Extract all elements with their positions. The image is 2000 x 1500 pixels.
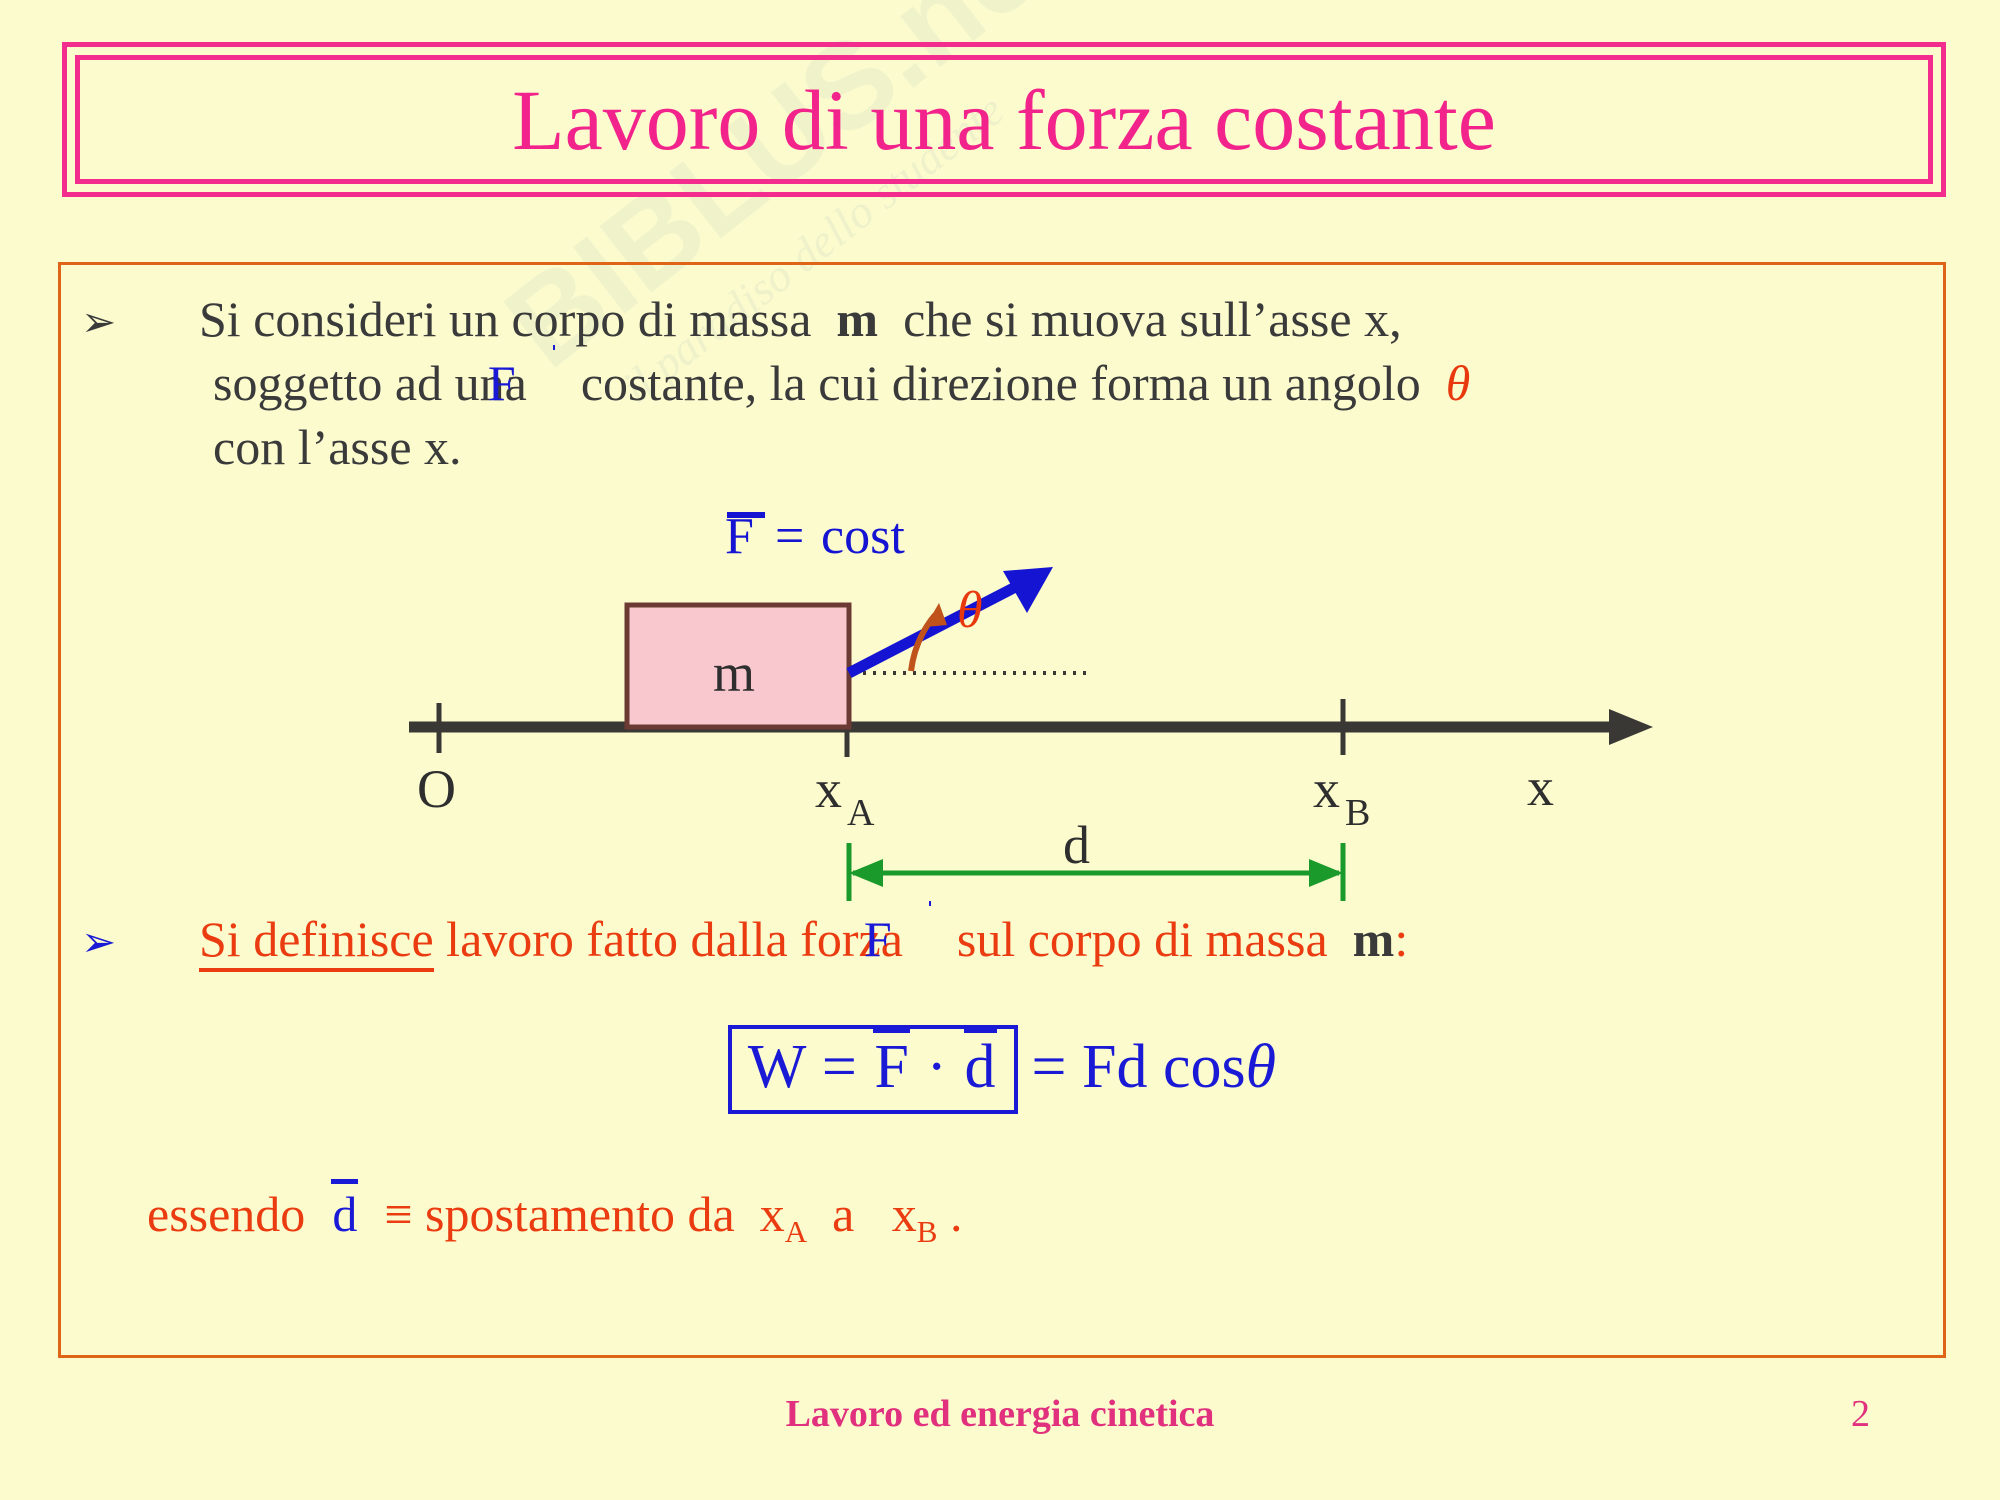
paragraph1-part1: Si consideri un corpo di massa	[199, 291, 811, 347]
formula-equals-1: =	[822, 1033, 857, 1101]
paragraph3-xa: x	[760, 1186, 785, 1242]
work-formula-boxed: W = F · d	[728, 1025, 1018, 1114]
formula-fd: Fd	[1082, 1033, 1147, 1101]
paragraph3-equiv: ≡	[384, 1186, 412, 1242]
x-axis	[409, 699, 1653, 757]
force-label-cost: cost	[821, 508, 905, 565]
paragraph2-underlined: Si definisce	[199, 911, 434, 972]
page-title: Lavoro di una forza costante	[67, 77, 1941, 163]
paragraph2-part3: :	[1394, 911, 1408, 967]
work-formula-tail: = Fd cosθ	[1032, 1032, 1277, 1103]
xb-label: x	[1313, 759, 1340, 819]
formula-cos: cos	[1163, 1033, 1246, 1101]
formula-dot: ·	[926, 1033, 947, 1101]
title-frame: Lavoro di una forza costante	[62, 42, 1946, 197]
formula-displacement-vector: d	[963, 1035, 998, 1100]
force-label-f: F	[725, 508, 754, 565]
formula-equals-2: =	[1032, 1033, 1067, 1101]
physics-diagram: F = cost m	[391, 495, 1671, 915]
force-vector-symbol-inline-1: F	[552, 351, 556, 415]
bullet-arrow-icon-2: ➢	[147, 915, 199, 969]
paragraph2-mass-symbol: m	[1353, 911, 1395, 967]
paragraph-block-3: essendo d ≡ spostamento da xA a xB .	[147, 1185, 962, 1250]
paragraph1-mass-symbol: m	[836, 291, 878, 347]
paragraph1-part5: con l’asse x.	[213, 419, 462, 475]
mass-block-label: m	[713, 643, 755, 703]
paragraph2-part2: sul corpo di massa	[957, 911, 1328, 967]
paragraph3-xa-sub: A	[785, 1214, 807, 1249]
paragraph-block-2: ➢Si definisce lavoro fatto dalla forza F…	[147, 907, 1927, 971]
formula-force-vector: F	[872, 1035, 910, 1100]
xa-label: x	[815, 759, 842, 819]
axis-tick-labels: O x A x B x	[417, 757, 1554, 834]
paragraph3-xb-sub: B	[917, 1214, 938, 1249]
paragraph3-part3: a	[832, 1186, 854, 1242]
paragraph1-part4: costante, la cui direzione forma un ango…	[581, 355, 1421, 411]
force-label-group: F = cost	[725, 508, 905, 565]
formula-theta: θ	[1246, 1033, 1276, 1101]
paragraph3-part2: spostamento da	[425, 1186, 735, 1242]
mass-block: m	[627, 605, 849, 727]
origin-label: O	[417, 759, 456, 819]
slide: BIBLUS.net il paradiso dello studente La…	[0, 0, 2000, 1500]
distance-label: d	[1063, 815, 1090, 875]
paragraph-block-1: ➢Si consideri un corpo di massa m che si…	[147, 287, 1907, 479]
footer-page-number: 2	[1851, 1392, 1870, 1436]
work-formula: W = F · d= Fd cosθ	[61, 1025, 1943, 1114]
force-vector-symbol-inline-2: F	[928, 907, 932, 971]
xb-subscript: B	[1345, 792, 1370, 834]
force-label-equals: =	[775, 508, 804, 565]
content-box: ➢Si consideri un corpo di massa m che si…	[58, 262, 1946, 1358]
paragraph2-part1: lavoro fatto dalla forza	[446, 911, 903, 967]
axis-name-label: x	[1527, 757, 1554, 817]
displacement-vector-symbol: d	[330, 1185, 359, 1243]
angle-theta-label: θ	[957, 582, 983, 639]
formula-w: W	[748, 1033, 807, 1101]
paragraph3-part4: .	[950, 1186, 963, 1242]
force-vector-arrow	[849, 567, 1053, 673]
angle-theta-symbol-inline: θ	[1446, 355, 1471, 411]
paragraph3-xb: x	[892, 1186, 917, 1242]
distance-measure: d	[849, 815, 1343, 901]
footer-title: Lavoro ed energia cinetica	[0, 1392, 2000, 1436]
paragraph1-part3: soggetto ad una	[213, 355, 527, 411]
paragraph1-part2: che si muova sull’asse x,	[903, 291, 1402, 347]
xa-subscript: A	[847, 792, 875, 834]
bullet-arrow-icon: ➢	[147, 295, 199, 349]
paragraph3-part1: essendo	[147, 1186, 305, 1242]
